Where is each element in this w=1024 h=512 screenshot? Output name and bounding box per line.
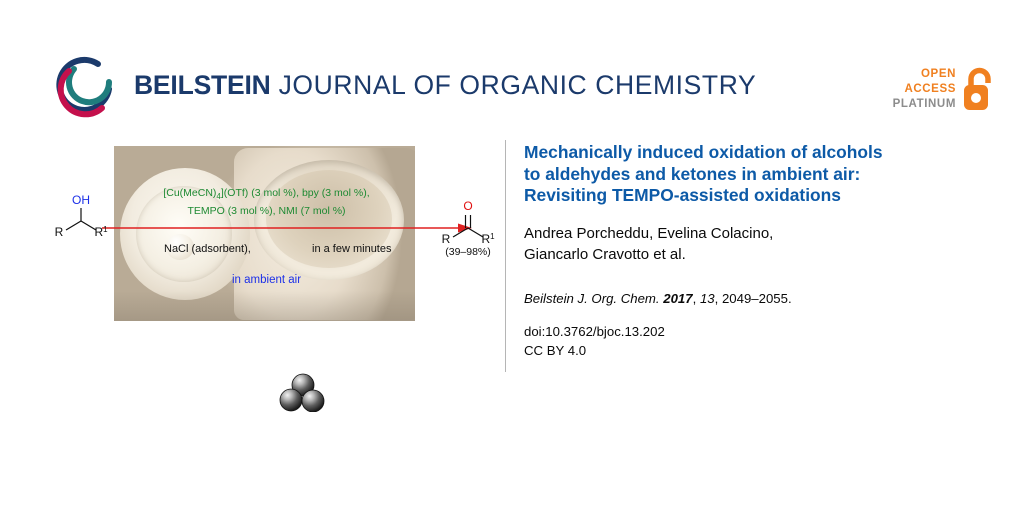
article-title[interactable]: Mechanically induced oxidation of alcoho… bbox=[524, 142, 994, 207]
cond-tempo-nmi: TEMPO (3 mol %), NMI (7 mol %) bbox=[187, 205, 345, 217]
reaction-conditions-time: in a few minutes bbox=[312, 243, 391, 255]
article-citation: Beilstein J. Org. Chem. 2017, 13, 2049–2… bbox=[524, 291, 994, 306]
open-access-badge: OPEN ACCESS PLATINUM bbox=[893, 58, 996, 120]
oa-line-access: ACCESS bbox=[893, 82, 956, 97]
article-authors-line-2: Giancarlo Cravotto et al. bbox=[524, 246, 686, 263]
article-authors-line-1: Andrea Porcheddu, Evelina Colacino, bbox=[524, 225, 773, 242]
masthead: BEILSTEIN JOURNAL OF ORGANIC CHEMISTRY O… bbox=[0, 0, 1024, 130]
cond-cu-suffix: ](OTf) (3 mol %), bpy (3 mol %), bbox=[221, 187, 370, 199]
citation-journal: Beilstein J. Org. Chem. bbox=[524, 291, 660, 306]
citation-volume: 13 bbox=[700, 291, 715, 306]
reaction-conditions-atmosphere: in ambient air bbox=[232, 274, 301, 286]
ball-mill-jar-photo bbox=[114, 146, 415, 321]
cond-cu-prefix: [Cu(MeCN) bbox=[163, 187, 216, 199]
article-metadata: Mechanically induced oxidation of alcoho… bbox=[524, 142, 994, 360]
product-r-label: R bbox=[442, 232, 451, 246]
reaction-conditions-catalyst: [Cu(MeCN)4](OTf) (3 mol %), bpy (3 mol %… bbox=[116, 186, 417, 219]
graphical-abstract: [Cu(MeCN)4](OTf) (3 mol %), bpy (3 mol %… bbox=[30, 140, 492, 330]
article-title-line-1: Mechanically induced oxidation of alcoho… bbox=[524, 142, 883, 162]
reaction-conditions-adsorbent: NaCl (adsorbent), bbox=[164, 243, 251, 255]
article-license[interactable]: CC BY 4.0 bbox=[524, 341, 994, 360]
product-oxygen-label: O bbox=[463, 199, 472, 213]
oa-line-platinum: PLATINUM bbox=[893, 97, 956, 112]
oa-line-open: OPEN bbox=[893, 67, 956, 82]
reactant-structure-alcohol: OH R R1 bbox=[46, 190, 116, 245]
article-title-line-2: to aldehydes and ketones in ambient air: bbox=[524, 164, 860, 184]
open-padlock-icon bbox=[962, 66, 996, 112]
three-steel-balls-icon bbox=[278, 372, 328, 412]
article-doi[interactable]: doi:10.3762/bjoc.13.202 bbox=[524, 322, 994, 341]
citation-pages: 2049–2055. bbox=[722, 291, 792, 306]
reactant-r-label: R bbox=[55, 225, 64, 239]
product-yield-label: (39–98%) bbox=[428, 246, 508, 258]
reactant-r1-label: R1 bbox=[94, 225, 108, 239]
open-access-words: OPEN ACCESS PLATINUM bbox=[893, 67, 956, 112]
beilstein-spiral-logo-icon bbox=[52, 52, 120, 120]
journal-wordmark-rest: JOURNAL OF ORGANIC CHEMISTRY bbox=[271, 70, 757, 100]
article-authors: Andrea Porcheddu, Evelina Colacino, Gian… bbox=[524, 223, 994, 265]
column-divider bbox=[505, 140, 506, 372]
product-r1-label: R1 bbox=[481, 232, 495, 246]
reactant-oh-label: OH bbox=[72, 193, 90, 207]
reaction-arrow-icon bbox=[102, 220, 472, 230]
article-title-line-3: Revisiting TEMPO-assisted oxidations bbox=[524, 185, 841, 205]
photo-bottom-shadow bbox=[114, 291, 415, 321]
journal-wordmark-brand: BEILSTEIN bbox=[134, 70, 271, 100]
citation-year: 2017 bbox=[663, 291, 692, 306]
journal-wordmark: BEILSTEIN JOURNAL OF ORGANIC CHEMISTRY bbox=[134, 70, 756, 101]
